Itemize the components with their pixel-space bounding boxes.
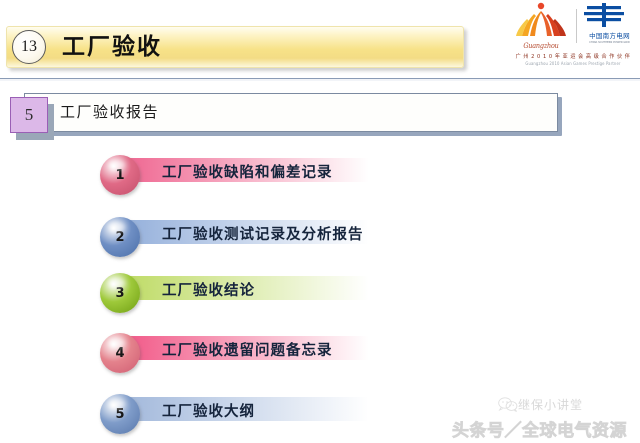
csg-name-en: CHINA SOUTHERN POWER GRID	[585, 40, 633, 45]
agenda-item-label: 工厂验收结论	[162, 279, 255, 300]
asian-games-logo: Guangzhou	[508, 2, 572, 50]
csg-name-cn: 中国南方电网	[581, 32, 638, 40]
page-title: 工厂验收	[62, 28, 162, 66]
section-title: 工厂验收报告	[60, 101, 159, 122]
source-watermark: 头条号／全球电气资源	[452, 416, 627, 441]
agenda-item-number-ball: 1	[100, 155, 140, 195]
wechat-watermark: 继保小讲堂	[498, 396, 583, 413]
header-divider-line-shadow	[0, 79, 640, 81]
csg-mark-icon	[581, 3, 627, 27]
partner-caption-cn: 广 州 2 0 1 0 年 亚 运 会 高 级 合 作 伙 伴	[513, 52, 633, 60]
agenda-item-number-ball: 2	[100, 217, 140, 257]
logo-divider	[576, 9, 577, 43]
partner-logo-block: Guangzhou 中国南方电网 CHINA SOUTHERN POWER GR…	[508, 2, 638, 70]
agenda-item-label: 工厂验收测试记录及分析报告	[162, 223, 364, 244]
agenda-item-number: 5	[115, 407, 124, 422]
agenda-item-number: 2	[115, 230, 124, 245]
csg-logo: 中国南方电网 CHINA SOUTHERN POWER GRID	[581, 3, 638, 49]
section-tag-badge: 5	[10, 97, 48, 133]
agenda-item-label: 工厂验收缺陷和偏差记录	[162, 161, 333, 182]
agenda-item-label: 工厂验收大纲	[162, 400, 255, 421]
asian-games-flame-icon	[508, 2, 572, 42]
logo-row: Guangzhou 中国南方电网 CHINA SOUTHERN POWER GR…	[508, 2, 638, 50]
agenda-item-number-ball: 3	[100, 273, 140, 313]
header-number-badge: 13	[12, 30, 46, 64]
wechat-watermark-label: 继保小讲堂	[518, 396, 583, 413]
agenda-item-number-ball: 4	[100, 333, 140, 373]
agenda-item-label: 工厂验收遗留问题备忘录	[162, 339, 333, 360]
slide-canvas: Guangzhou 中国南方电网 CHINA SOUTHERN POWER GR…	[0, 0, 640, 443]
partner-caption-en: Guangzhou 2010 Asian Games Prestige Part…	[515, 61, 632, 66]
agenda-item-number-ball: 5	[100, 394, 140, 434]
agenda-item-number: 4	[115, 346, 124, 361]
agenda-item-number: 1	[115, 168, 124, 183]
wechat-icon	[498, 397, 518, 412]
agenda-item-number: 3	[115, 286, 124, 301]
guangzhou-wordmark: Guangzhou	[514, 42, 567, 50]
